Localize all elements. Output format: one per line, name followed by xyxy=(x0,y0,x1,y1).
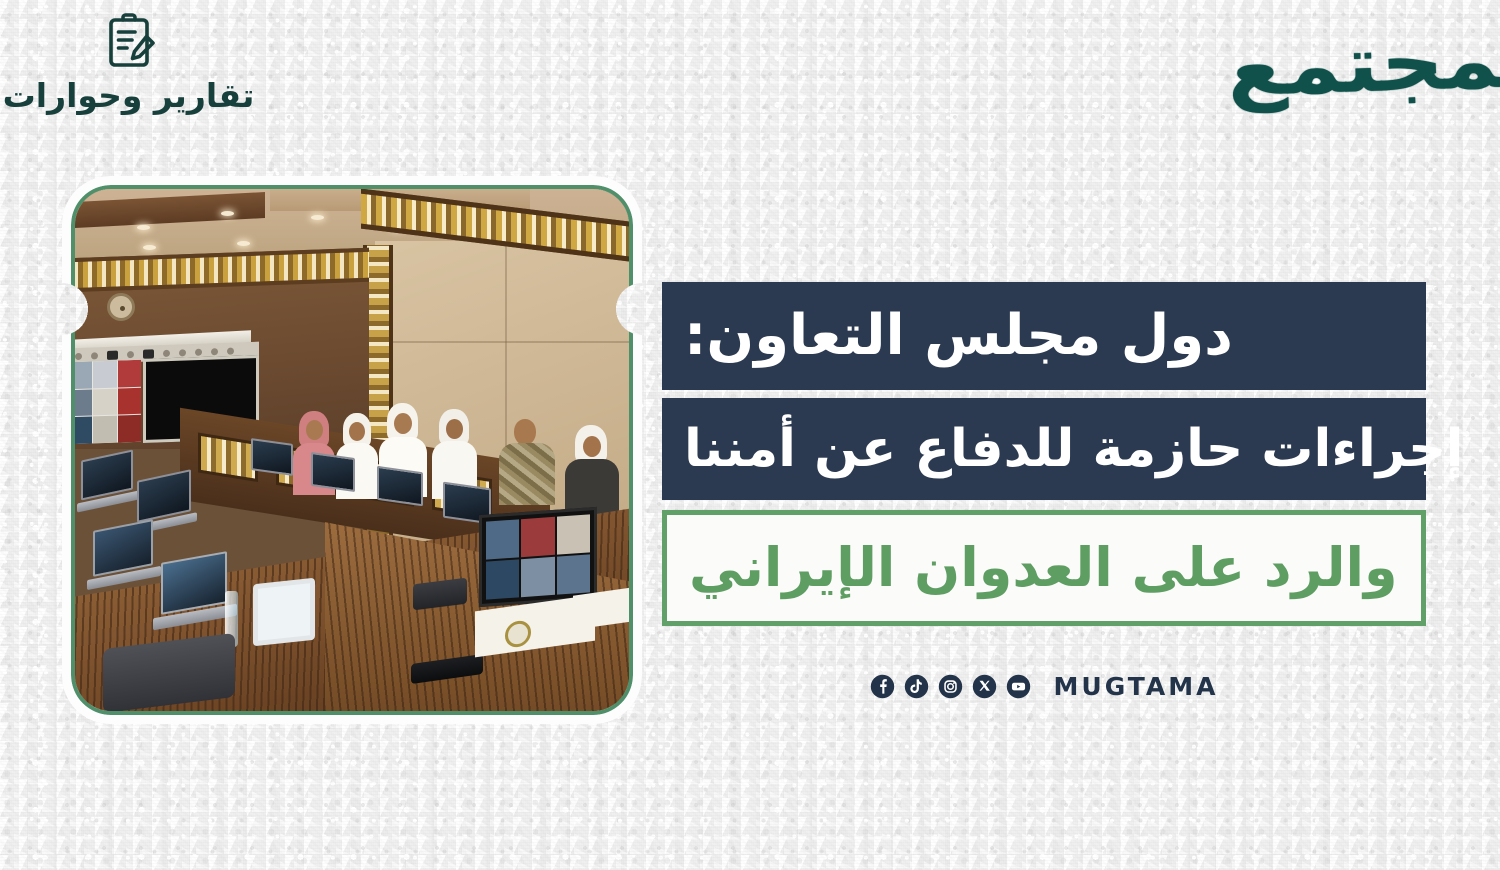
headline-line-1: دول مجلس التعاون: xyxy=(662,282,1426,390)
x-twitter-icon[interactable] xyxy=(972,674,997,699)
photo-inner-border xyxy=(71,185,633,715)
category-badge-label: تقارير وحوارات xyxy=(3,76,255,115)
instagram-icon[interactable] xyxy=(938,674,963,699)
headline-line-1-text: دول مجلس التعاون: xyxy=(684,308,1233,364)
photo-videoconference-monitor xyxy=(479,507,597,607)
social-bar: MUGTAMA xyxy=(662,672,1426,701)
headline-line-2: إجراءات حازمة للدفاع عن أمننا xyxy=(662,398,1426,500)
photo-wall-clock xyxy=(107,293,135,321)
photo-video-conference-grid xyxy=(75,360,141,445)
photo-card xyxy=(62,176,642,724)
mugtama-calligraphy-logo: المجتمع xyxy=(1316,8,1476,120)
brand-logo-word: المجتمع xyxy=(1225,20,1500,108)
category-badge: تقارير وحوارات xyxy=(26,12,231,115)
photo-tablet xyxy=(253,578,315,647)
headline-line-2-text: إجراءات حازمة للدفاع عن أمننا xyxy=(684,423,1463,475)
social-brand-name: MUGTAMA xyxy=(1054,672,1219,701)
clipboard-pencil-icon xyxy=(102,12,156,70)
facebook-icon[interactable] xyxy=(870,674,895,699)
photo-downlight xyxy=(237,241,250,246)
photo-table-lattice xyxy=(198,433,258,483)
meeting-room-photo xyxy=(75,189,629,711)
photo-frame xyxy=(62,176,642,724)
headline-line-3: والرد على العدوان الإيراني xyxy=(662,510,1426,626)
photo-downlight xyxy=(143,245,156,250)
headline-line-3-text: والرد على العدوان الإيراني xyxy=(689,541,1398,595)
photo-downlight xyxy=(137,225,150,230)
tiktok-icon[interactable] xyxy=(904,674,929,699)
headline-stack: دول مجلس التعاون: إجراءات حازمة للدفاع ع… xyxy=(662,282,1426,626)
youtube-icon[interactable] xyxy=(1006,674,1031,699)
photo-downlight xyxy=(221,211,234,216)
photo-downlight xyxy=(311,215,324,220)
